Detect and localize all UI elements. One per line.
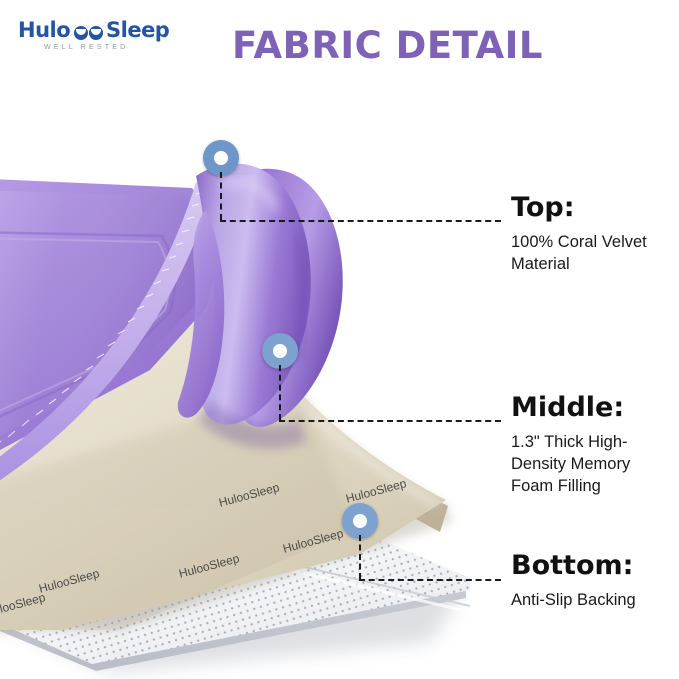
infographic-canvas: Hulo Sleep WELL RESTED FABRIC DETAIL bbox=[0, 0, 679, 679]
spec-block-top: Top: 100% Coral Velvet Material bbox=[511, 192, 676, 275]
callout-marker-middle[interactable] bbox=[262, 333, 298, 369]
sleepy-eye-icon bbox=[89, 26, 103, 40]
sleepy-eye-icon bbox=[74, 26, 88, 40]
spec-block-middle: Middle: 1.3" Thick High-Density Memory F… bbox=[511, 392, 676, 497]
leader-line-top-horizontal bbox=[220, 220, 501, 222]
logo-tagline: WELL RESTED bbox=[44, 44, 128, 51]
logo-wordmark-first: Hulo bbox=[18, 18, 70, 42]
leader-line-top-vertical bbox=[220, 172, 222, 220]
spec-heading-top: Top: bbox=[511, 192, 676, 224]
leader-line-middle-vertical bbox=[279, 365, 281, 420]
spec-heading-middle: Middle: bbox=[511, 392, 676, 424]
spec-description-top: 100% Coral Velvet Material bbox=[511, 231, 676, 275]
brand-logo: Hulo Sleep WELL RESTED bbox=[18, 18, 178, 58]
spec-description-middle: 1.3" Thick High-Density Memory Foam Fill… bbox=[511, 431, 676, 497]
spec-block-bottom: Bottom: Anti-Slip Backing bbox=[511, 550, 676, 611]
spec-description-bottom: Anti-Slip Backing bbox=[511, 589, 676, 611]
leader-line-bottom-vertical bbox=[359, 535, 361, 579]
leader-line-bottom-horizontal bbox=[359, 579, 501, 581]
logo-wordmark-second: Sleep bbox=[106, 18, 169, 42]
leader-line-middle-horizontal bbox=[279, 420, 501, 422]
spec-heading-bottom: Bottom: bbox=[511, 550, 676, 582]
callout-marker-top[interactable] bbox=[203, 140, 239, 176]
page-title: FABRIC DETAIL bbox=[232, 24, 543, 67]
callout-marker-bottom[interactable] bbox=[342, 503, 378, 539]
